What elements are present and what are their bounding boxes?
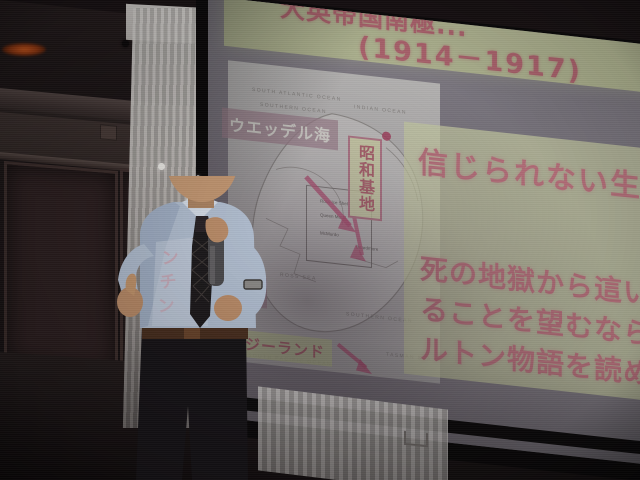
ceiling-fixture-icon — [122, 40, 129, 47]
presentation-photo: 大英帝国南極... (1914－1917) SOUTH ATLANTIC OCE… — [0, 0, 640, 480]
map-tag-showa-station: 昭和基地 — [348, 135, 382, 221]
screen-hook-icon — [404, 431, 428, 448]
showa-station-marker-icon — [382, 131, 391, 141]
svg-text:ン: ン — [157, 296, 175, 317]
presenter: ン チ ン — [96, 176, 306, 480]
wall-switch-plate — [100, 124, 117, 140]
svg-text:チ: チ — [159, 272, 177, 293]
new-zealand-arrow-icon — [336, 340, 380, 379]
svg-text:ン: ン — [161, 248, 179, 269]
ceiling-downlight-icon — [2, 43, 46, 56]
pointer-stick-tip — [158, 163, 165, 170]
